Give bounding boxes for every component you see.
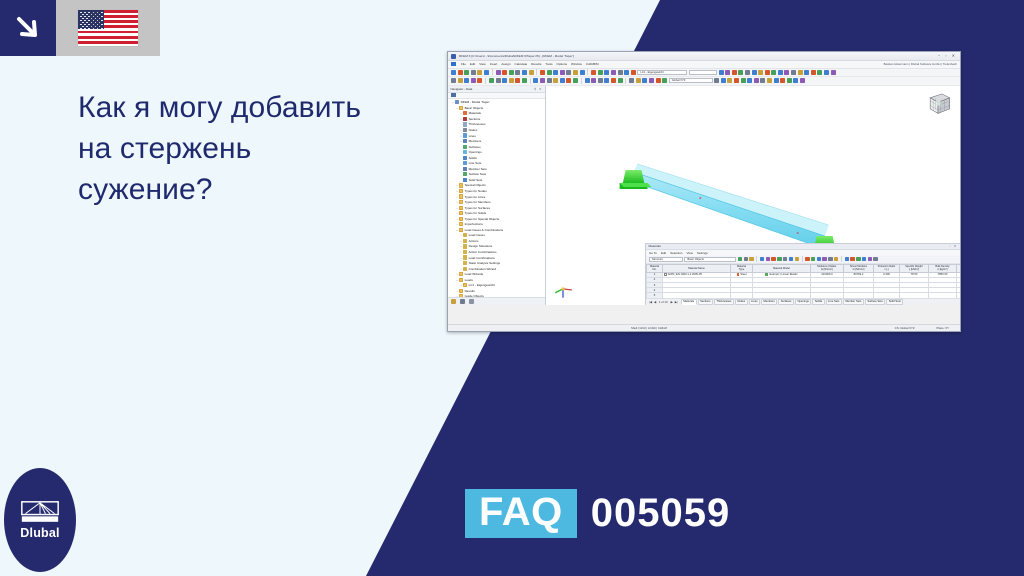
slide-canvas: Как я могу добавить на стержень сужение?…: [0, 0, 1024, 576]
table-toolbar-icon[interactable]: [795, 257, 799, 261]
toolbar-icon[interactable]: [760, 78, 765, 83]
object-filter-combo[interactable]: Basic Objects: [684, 257, 736, 262]
tree-item-icon: [459, 289, 463, 293]
toolbar-icon[interactable]: [811, 70, 816, 75]
menu-item-assign[interactable]: Assign: [501, 62, 510, 66]
tree-item-label: Types for Members: [465, 200, 491, 204]
toolbar-icon[interactable]: [745, 70, 750, 75]
toolbar-icon[interactable]: [618, 70, 623, 75]
tree-item-label: Surface Sets: [469, 172, 486, 176]
nav-footer-icon-3[interactable]: [469, 299, 474, 304]
tree-item-icon: [463, 255, 467, 259]
menu-bar[interactable]: File Edit View Insert Assign Calculate R…: [448, 61, 960, 69]
table-toolbar-icon[interactable]: [856, 257, 860, 261]
model-viewport[interactable]: Materials ▫ ✕ Go To Edit Selection View …: [546, 86, 960, 305]
toolbar-icon[interactable]: [484, 70, 489, 75]
toolbar-icon[interactable]: [471, 78, 476, 83]
toolbar-icon[interactable]: [533, 78, 538, 83]
navigator-tree[interactable]: ⌄RFEM - Model 'Taper'⌄Basic Objects›Mate…: [448, 99, 545, 297]
toolbar-icon[interactable]: [547, 78, 552, 83]
table-toolbar-icon[interactable]: [873, 257, 877, 261]
status-coords: CS: Global XYZ: [895, 326, 915, 330]
tree-item-icon: [463, 139, 467, 143]
main-toolbar-row-2[interactable]: Global XYZ: [448, 77, 960, 86]
first-record-icon[interactable]: |◀: [649, 300, 652, 304]
tree-item-icon: [459, 222, 463, 226]
navigator-footer[interactable]: [448, 297, 545, 305]
toolbar-icon[interactable]: [793, 78, 798, 83]
tree-item-icon: [463, 239, 467, 243]
tree-item-icon: [459, 217, 463, 221]
toolbar-separator: [536, 69, 537, 75]
toolbar-icon[interactable]: [831, 70, 836, 75]
toolbar-icon[interactable]: [611, 78, 616, 83]
faq-number: 005059: [591, 491, 730, 536]
toolbar-icon[interactable]: [714, 78, 719, 83]
tree-item-label: RFEM - Model 'Taper': [461, 100, 490, 104]
main-toolbar-row-1[interactable]: LC1 - Eigengewicht: [448, 69, 960, 78]
toolbar-separator: [530, 78, 531, 84]
navigator-pin-icon[interactable]: ⚲ ✕: [534, 87, 543, 91]
menu-item-results[interactable]: Results: [531, 62, 541, 66]
tree-item-icon: [455, 100, 459, 104]
table-toolbar-icon[interactable]: [783, 257, 787, 261]
toolbar-icon[interactable]: [824, 70, 829, 75]
grid-column-header[interactable]: Material Name: [663, 264, 731, 272]
toolbar-icon[interactable]: [451, 70, 456, 75]
table-toolbar-icon[interactable]: [862, 257, 866, 261]
tree-item-icon: [463, 244, 467, 248]
dlubal-logo: Dlubal: [4, 468, 76, 572]
toolbar-icon[interactable]: [540, 70, 545, 75]
toolbar-separator: [756, 256, 757, 262]
menu-item-file[interactable]: File: [461, 62, 466, 66]
toolbar-icon[interactable]: [464, 78, 469, 83]
toolbar-icon[interactable]: [598, 78, 603, 83]
toolbar-separator: [625, 78, 626, 84]
toolbar-icon[interactable]: [509, 78, 514, 83]
toolbar-icon[interactable]: [451, 78, 456, 83]
toolbar-separator: [841, 256, 842, 262]
toolbar-icon[interactable]: [765, 70, 770, 75]
table-toolbar-icon[interactable]: [777, 257, 781, 261]
toolbar-icon[interactable]: [604, 78, 609, 83]
tree-item-label: Members: [469, 139, 482, 143]
toolbar-icon[interactable]: [734, 78, 739, 83]
menu-item-window[interactable]: Window: [571, 62, 582, 66]
tree-item-icon: [463, 261, 467, 265]
toolbar-icon[interactable]: [529, 70, 534, 75]
faq-identifier: FAQ 005059: [465, 489, 730, 538]
toolbar-icon[interactable]: [662, 78, 667, 83]
tree-item-label: Special Objects: [465, 183, 486, 187]
status-plane: Plane: XY: [937, 326, 949, 330]
tree-item-label: Member Sets: [469, 167, 487, 171]
toolbar-icon[interactable]: [752, 70, 757, 75]
table-window-controls[interactable]: ▫ ✕: [949, 244, 957, 248]
toolbar-icon[interactable]: [784, 70, 789, 75]
toolbar-icon[interactable]: [566, 70, 571, 75]
toolbar-separator: [492, 69, 493, 75]
coordinate-system-combo[interactable]: Global XYZ: [669, 78, 713, 83]
toolbar-icon[interactable]: [725, 70, 730, 75]
toolbar-icon[interactable]: [618, 78, 623, 83]
table-toolbar-icon[interactable]: [850, 257, 854, 261]
tree-item-icon: [463, 161, 467, 165]
table-tab[interactable]: Materials: [681, 299, 697, 305]
tree-item-label: Load Cases & Combinations: [465, 228, 504, 232]
tree-item-icon: [463, 172, 467, 176]
structure-filter-combo[interactable]: Structure: [649, 257, 683, 262]
toolbar-icon[interactable]: [732, 70, 737, 75]
toolbar-icon[interactable]: [547, 70, 552, 75]
tree-item-label: Sections: [469, 117, 481, 121]
table-toolbar-icon[interactable]: [868, 257, 872, 261]
toolbar-icon[interactable]: [496, 78, 501, 83]
tree-item-icon: [459, 272, 463, 276]
tree-item-icon: [463, 150, 467, 154]
record-nav-arrows-2[interactable]: ▶ ▶|: [671, 300, 678, 304]
table-tab[interactable]: Line Sets: [826, 299, 842, 305]
table-toolbar[interactable]: Structure Basic Objects: [646, 256, 960, 264]
table-menu-settings[interactable]: Settings: [697, 251, 708, 255]
arrow-down-right-icon: [0, 0, 56, 56]
toolbar-icon[interactable]: [540, 78, 545, 83]
toolbar-icon[interactable]: [804, 70, 809, 75]
tree-item-icon: [463, 122, 467, 126]
table-tab[interactable]: Members: [761, 299, 777, 305]
toolbar-icon[interactable]: [791, 70, 796, 75]
last-record-icon[interactable]: ▶|: [675, 300, 678, 304]
table-menu-goto[interactable]: Go To: [649, 251, 657, 255]
toolbar-icon[interactable]: [727, 78, 732, 83]
materials-table-window: Materials ▫ ✕ Go To Edit Selection View …: [645, 243, 960, 305]
table-toolbar-icon[interactable]: [760, 257, 764, 261]
window-title: RFEM 6 [C:\Users\...\Documents\Dlubal\RF…: [459, 54, 574, 58]
table-toolbar-icon[interactable]: [771, 257, 775, 261]
table-toolbar-icon[interactable]: [817, 257, 821, 261]
tree-item-label: Types for Surfaces: [465, 206, 490, 210]
page-indicator: 1 of 13: [659, 300, 668, 304]
grid-column-header[interactable]: Bulk Densityα [kg/m³]: [929, 264, 957, 272]
toolbar-separator: [802, 256, 803, 262]
materials-grid[interactable]: MaterialNo.Material NameMaterialTypeMate…: [646, 264, 960, 299]
toolbar-icon[interactable]: [591, 78, 596, 83]
tree-item-label: Static Analysis Settings: [469, 261, 501, 265]
toolbar-icon[interactable]: [560, 70, 565, 75]
grid-column-header[interactable]: Specific Weightγ [kN/m³]: [900, 264, 929, 272]
tree-item-icon: [459, 228, 463, 232]
toolbar-icon[interactable]: [800, 78, 805, 83]
menu-app-icon: [451, 62, 456, 66]
navigator-title: Navigator - Data: [451, 87, 473, 91]
menu-item-insert[interactable]: Insert: [490, 62, 498, 66]
tree-item-label: Load Combinations: [469, 256, 495, 260]
window-controls[interactable]: − ▫ ✕: [938, 54, 957, 58]
toolbar-icon[interactable]: [585, 78, 590, 83]
structure-filter-label: Structure: [652, 258, 663, 261]
menu-item-edit[interactable]: Edit: [470, 62, 475, 66]
tree-item-label: Openings: [469, 150, 482, 154]
status-units: Shell | GNU | LOAD | CHKoff: [631, 326, 667, 330]
table-tab[interactable]: Surfaces: [778, 299, 794, 305]
nav-footer-icon-1[interactable]: [451, 299, 456, 304]
toolbar-icon[interactable]: [458, 78, 463, 83]
maximize-icon[interactable]: ▫: [945, 54, 946, 58]
tree-item-label: Materials: [469, 111, 481, 115]
toolbar-icon[interactable]: [721, 78, 726, 83]
toolbar-icon[interactable]: [767, 78, 772, 83]
tree-item-icon: [463, 128, 467, 132]
tree-item-label: Combination Wizard: [469, 267, 496, 271]
toolbar-icon[interactable]: [611, 70, 616, 75]
table-tab-row[interactable]: |◀ ◀ 1 of 13 ▶ ▶| MaterialsSectionsThick…: [646, 298, 960, 304]
toolbar-icon[interactable]: [719, 70, 724, 75]
nav-footer-icon-2[interactable]: [460, 299, 465, 304]
tree-item-icon: [459, 206, 463, 210]
status-bar: Shell | GNU | LOAD | CHKoff CS: Global X…: [448, 324, 960, 331]
tree-item-icon: [463, 111, 467, 115]
toolbar-icon[interactable]: [591, 70, 596, 75]
app-body: Navigator - Data ⚲ ✕ ⌄RFEM - Model 'Tape…: [448, 86, 960, 305]
toolbar-icon[interactable]: [649, 78, 654, 83]
table-toolbar-icon[interactable]: [828, 257, 832, 261]
toolbar-icon[interactable]: [496, 70, 501, 75]
toolbar-icon[interactable]: [771, 70, 776, 75]
toolbar-icon[interactable]: [629, 78, 634, 83]
toolbar-icon[interactable]: [458, 70, 463, 75]
grid-column-header[interactable]: Coeff. of Th. Exp.α [1/°C]: [957, 264, 961, 272]
navigator-header: Navigator - Data ⚲ ✕: [448, 86, 545, 93]
tree-item-icon: [459, 211, 463, 215]
tree-item-label: Nodes: [469, 128, 478, 132]
tree-item-icon: [459, 200, 463, 204]
grid-column-header[interactable]: Material Model: [753, 264, 811, 272]
toolbar-icon[interactable]: [573, 78, 578, 83]
user-label: Bastian Ackermann | Dlubal Software GmbH…: [884, 62, 957, 66]
tree-item-icon: [463, 233, 467, 237]
table-tab[interactable]: Solids: [812, 299, 825, 305]
tree-item-label: Types for Lines: [465, 195, 486, 199]
table-toolbar-icon[interactable]: [822, 257, 826, 261]
menu-item-cadbim[interactable]: CAD/BIM: [586, 62, 599, 66]
navigator-data-tab-icon[interactable]: [451, 93, 456, 97]
tree-item-label: Load Wizards: [465, 272, 484, 276]
grid-column-header[interactable]: MaterialNo.: [647, 264, 663, 272]
tree-item-icon: [463, 267, 467, 271]
toolbar-icon[interactable]: [798, 70, 803, 75]
toolbar-icon[interactable]: [738, 70, 743, 75]
table-toolbar-icon[interactable]: [738, 257, 742, 261]
window-titlebar[interactable]: RFEM 6 [C:\Users\...\Documents\Dlubal\RF…: [448, 52, 960, 61]
toolbar-separator: [581, 78, 582, 84]
tree-item-label: Types for Nodes: [465, 189, 487, 193]
app-icon: [451, 54, 456, 59]
tree-item-label: Lines: [469, 134, 476, 138]
table-toolbar-icon[interactable]: [789, 257, 793, 261]
toolbar-icon[interactable]: [778, 70, 783, 75]
minimize-icon[interactable]: −: [938, 54, 940, 58]
table-toolbar-icon[interactable]: [805, 257, 809, 261]
table-tab[interactable]: Openings: [795, 299, 812, 305]
toolbar-icon[interactable]: [787, 78, 792, 83]
tree-item-label: Surfaces: [469, 145, 481, 149]
tree-item-icon: [459, 189, 463, 193]
view-scale-combo[interactable]: [689, 70, 717, 75]
tree-item-label: LC1 - Eigengewicht: [469, 283, 495, 287]
tree-item-icon: [463, 178, 467, 182]
toolbar-icon[interactable]: [758, 70, 763, 75]
prev-record-icon[interactable]: ◀: [654, 300, 656, 304]
toolbar-icon[interactable]: [560, 78, 565, 83]
toolbar-icon[interactable]: [598, 70, 603, 75]
tree-item-icon: [463, 117, 467, 121]
toolbar-icon[interactable]: [509, 70, 514, 75]
toolbar-icon[interactable]: [642, 78, 647, 83]
tree-item-icon: [459, 106, 463, 110]
tree-item-icon: [459, 278, 463, 282]
close-icon[interactable]: ✕: [952, 54, 955, 58]
menu-item-options[interactable]: Options: [557, 62, 568, 66]
tree-item-label: Results: [465, 289, 475, 293]
tree-item-label: Action Combinations: [469, 250, 497, 254]
next-record-icon[interactable]: ▶: [671, 300, 673, 304]
toolbar-icon[interactable]: [624, 70, 629, 75]
tree-item-label: Design Situations: [469, 244, 493, 248]
tree-item-icon: [463, 156, 467, 160]
toolbar-icon[interactable]: [471, 70, 476, 75]
table-tab[interactable]: Solid Sets: [886, 299, 903, 305]
toolbar-icon[interactable]: [817, 70, 822, 75]
toolbar-icon[interactable]: [580, 70, 585, 75]
toolbar-icon[interactable]: [747, 78, 752, 83]
toolbar-icon[interactable]: [477, 70, 482, 75]
table-tab[interactable]: Member Sets: [843, 299, 864, 305]
toolbar-icon[interactable]: [566, 78, 571, 83]
table-toolbar-icon[interactable]: [811, 257, 815, 261]
tree-item-label: Solid Sets: [469, 178, 483, 182]
toolbar-icon[interactable]: [573, 70, 578, 75]
us-flag-icon: [56, 0, 160, 56]
toolbar-icon[interactable]: [553, 78, 558, 83]
tree-item-label: Loads: [465, 278, 473, 282]
menu-item-calculate[interactable]: Calculate: [515, 62, 528, 66]
logo-text: Dlubal: [20, 526, 59, 540]
toolbar-icon[interactable]: [780, 78, 785, 83]
faq-tag: FAQ: [465, 489, 577, 538]
grid-column-header[interactable]: MaterialType: [731, 264, 753, 272]
object-filter-label: Basic Objects: [687, 258, 703, 261]
toolbar-icon[interactable]: [774, 78, 779, 83]
toolbar-separator: [587, 69, 588, 75]
navigator-panel: Navigator - Data ⚲ ✕ ⌄RFEM - Model 'Tape…: [448, 86, 546, 305]
tree-item-icon: [463, 283, 467, 287]
toolbar-icon[interactable]: [741, 78, 746, 83]
table-tab[interactable]: Lines: [749, 299, 761, 305]
grid-column-header[interactable]: Poisson's Ratioν [-]: [874, 264, 900, 272]
table-toolbar-icon[interactable]: [744, 257, 748, 261]
menu-item-tools[interactable]: Tools: [545, 62, 552, 66]
toolbar-icon[interactable]: [515, 78, 520, 83]
toolbar-icon[interactable]: [553, 70, 558, 75]
table-menu-selection[interactable]: Selection: [670, 251, 682, 255]
rfem-application-window: RFEM 6 [C:\Users\...\Documents\Dlubal\RF…: [447, 51, 961, 332]
dlubal-mark-icon: [20, 500, 60, 524]
table-toolbar-icon[interactable]: [845, 257, 849, 261]
toolbar-icon[interactable]: [636, 78, 641, 83]
toolbar-icon[interactable]: [604, 70, 609, 75]
table-tab[interactable]: Surface Sets: [865, 299, 886, 305]
table-tab[interactable]: Thicknesses: [714, 299, 734, 305]
table-menu-view[interactable]: View: [686, 251, 692, 255]
table-toolbar-icon[interactable]: [834, 257, 838, 261]
toolbar-icon[interactable]: [631, 70, 636, 75]
grid-header-row: MaterialNo.Material NameMaterialTypeMate…: [647, 264, 961, 272]
toolbar-icon[interactable]: [464, 70, 469, 75]
table-toolbar-icon[interactable]: [766, 257, 770, 261]
toolbar-icon[interactable]: [489, 78, 494, 83]
toolbar-separator: [485, 78, 486, 84]
toolbar-icon[interactable]: [515, 70, 520, 75]
tree-item-label: Imperfections: [465, 222, 483, 226]
tree-item-icon: [463, 167, 467, 171]
tree-item-label: Solids: [469, 156, 477, 160]
tree-item-icon: [463, 250, 467, 254]
toolbar-icon[interactable]: [502, 70, 507, 75]
tree-item-label: Thicknesses: [469, 122, 486, 126]
page-title: Как я могу добавить на стержень сужение?: [78, 88, 368, 210]
tree-item-icon: [463, 133, 467, 137]
view-cube-icon[interactable]: [925, 90, 951, 116]
tree-item-label: Basic Objects: [465, 106, 484, 110]
tree-item-label: Types for Solids: [465, 211, 487, 215]
grid-column-header[interactable]: Modulus of Elast.E [N/mm²]: [811, 264, 844, 272]
tree-item-label: Line Sets: [469, 161, 482, 165]
toolbar-icon[interactable]: [522, 70, 527, 75]
record-nav-arrows[interactable]: |◀ ◀: [649, 300, 656, 304]
menu-item-view[interactable]: View: [479, 62, 486, 66]
tree-item-icon: [463, 145, 467, 149]
toolbar-icon[interactable]: [477, 78, 482, 83]
toolbar-icon[interactable]: [656, 78, 661, 83]
table-window-title: Materials: [649, 244, 661, 248]
toolbar-icon[interactable]: [754, 78, 759, 83]
table-menu-edit[interactable]: Edit: [661, 251, 666, 255]
toolbar-icon[interactable]: [502, 78, 507, 83]
load-case-combo[interactable]: LC1 - Eigengewicht: [637, 70, 687, 75]
table-tab[interactable]: Nodes: [735, 299, 748, 305]
coordinate-axes-icon: [552, 279, 574, 301]
table-tab[interactable]: Sections: [698, 299, 714, 305]
tree-item-icon: [459, 183, 463, 187]
tree-item-label: Types for Special Objects: [465, 217, 500, 221]
language-badge: [0, 0, 160, 56]
toolbar-icon[interactable]: [522, 78, 527, 83]
table-tabs[interactable]: MaterialsSectionsThicknessesNodesLinesMe…: [681, 299, 905, 305]
grid-body[interactable]: 1S235 | EN 1993-1-1:2005-05SteelIsotropi…: [647, 272, 961, 298]
tree-item-label: Load Cases: [469, 233, 485, 237]
tree-item-icon: [459, 194, 463, 198]
tree-item-label: Actions: [469, 239, 479, 243]
grid-column-header[interactable]: Shear ModulusG [N/mm²]: [844, 264, 874, 272]
table-toolbar-icon[interactable]: [749, 257, 753, 261]
